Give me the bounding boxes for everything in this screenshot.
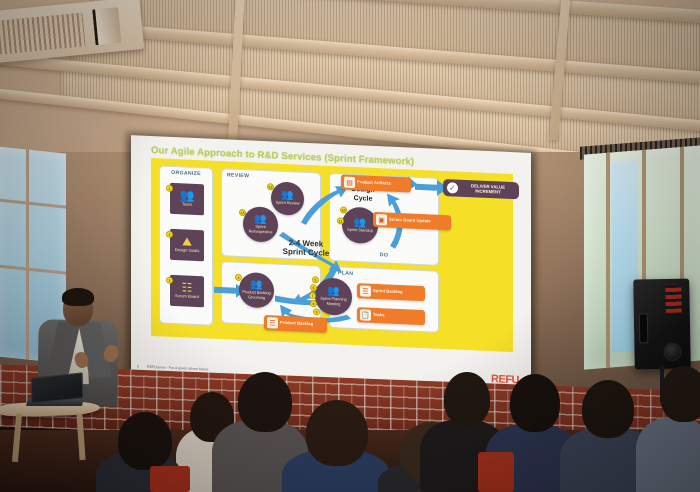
node-backlog-grooming-label: Product Backlog Grooming [239,290,274,300]
artifact-product-backlog: ☰ Product Backlog [264,315,327,333]
step-badge: 5 [312,276,319,283]
speaker-woofer-icon [663,343,681,361]
audience-member-head [118,412,172,470]
node-sprint-retrospective-label: Sprint Retrospective [243,224,278,234]
step-badge: 9 [313,308,320,315]
presentation-photo-scene: Our Agile Approach to R&D Services (Spri… [0,0,700,492]
step-badge: 3 [166,277,173,284]
layers-icon: ☰ [360,285,371,296]
node-sprint-planning-meeting: 👥 Sprint Planning Meeting [315,277,352,316]
artifact-tasks: 📋 Tasks [357,307,425,325]
audience-member-head [444,372,490,426]
chair [478,452,514,492]
node-sprint-review: 👥 Sprint Review [271,181,304,215]
step-badge: 6 [310,284,317,291]
audience-member-head [510,374,560,432]
node-sprint-review-label: Sprint Review [275,201,299,206]
ac-vent-icon [92,7,121,45]
step-badge: 8 [310,300,317,307]
audience-member-head [238,372,292,432]
board-icon: ▣ [376,214,387,225]
ceiling [0,0,700,152]
sprint-cycle-label: 2-4 Week Sprint Cycle [282,238,330,258]
artifact-product-artifacts-label: Product Artifacts [357,180,391,186]
chair [150,466,190,492]
artifact-tasks-label: Tasks [373,313,385,318]
audience-member-head [306,400,368,466]
step-badge: 10 [340,206,347,213]
speaker-brand-mark [665,285,681,313]
slide-diagram-canvas: ORGANIZE 👥 Team 1 ⛰ Design Goals 2 ☷ Scr… [151,158,513,352]
presenter-hair [62,288,94,306]
step-badge: 1 [166,185,173,192]
artifact-sprint-backlog-label: Sprint Backlog [373,289,403,295]
artifact-sprint-backlog: ☰ Sprint Backlog [357,283,425,301]
team-icon: 👥 [354,218,366,228]
artifact-product-backlog-label: Product Backlog [280,321,313,327]
artifacts-icon: ▤ [344,177,355,188]
step-badge: 12 [267,183,274,190]
projection-screen: Our Agile Approach to R&D Services (Spri… [131,135,531,389]
audience-member-head [582,380,634,438]
node-sprint-standup-label: Sprint Standup [347,228,373,233]
projector-mount [86,127,103,137]
speaker-port [639,313,649,343]
audience-member-head [660,366,700,422]
step-badge: 11 [337,217,344,224]
deliver-value-increment-label: DELIVER VALUE INCREMENT [461,183,515,195]
node-sprint-retrospective: 👥 Sprint Retrospective [243,206,278,243]
node-product-backlog-grooming: 👥 Product Backlog Grooming [239,272,274,309]
slide-page-number: 5 [137,364,139,368]
stack-icon: ☰ [267,317,278,328]
laptop-screen[interactable] [31,372,83,403]
deliver-value-increment: ✓ DELIVER VALUE INCREMENT [443,179,519,199]
step-badge: 7 [309,292,316,299]
step-badge: 13 [239,209,246,216]
step-badge: 4 [235,274,242,281]
clipboard-icon: 📋 [360,309,371,320]
step-badge: 2 [166,231,173,238]
artifact-scrum-board-update-label: Scrum Board Update [389,218,431,224]
node-sprint-planning-label: Sprint Planning Meeting [315,296,352,306]
ac-grille-icon [0,12,86,54]
pa-speaker [633,279,691,370]
artifact-product-artifacts: ▤ Product Artifacts [341,174,411,192]
audience-member-shoulders [636,418,700,492]
check-circle-icon: ✓ [447,182,458,193]
